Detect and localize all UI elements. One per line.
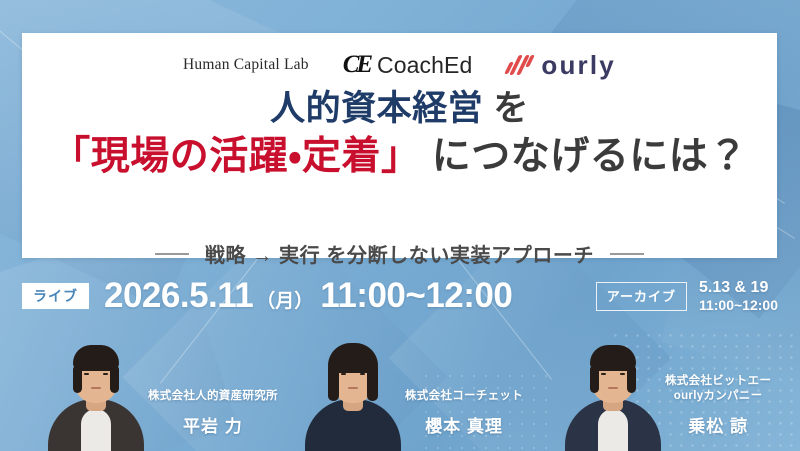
speaker-photo [48,330,144,451]
live-schedule: ライブ 2026.5.11 （月） 11:00~12:00 [22,276,512,316]
schedule-bar: ライブ 2026.5.11 （月） 11:00~12:00 アーカイブ 5.13… [0,266,800,326]
headline-line-1: 人的資本経営 を [22,88,777,131]
speaker-name: 乗松 諒 [665,412,771,437]
speaker-org: 株式会社ビットエー [665,374,771,390]
speaker-info: 株式会社人的資産研究所 平岩 力 [148,389,278,451]
coached-ce-mark-icon: CE [343,52,370,77]
speaker-row: 株式会社人的資産研究所 平岩 力 株式会社コーチェット 櫻本 真理 [0,330,800,451]
live-date: 2026.5.11 [104,276,253,316]
subtitle: 戦略 → 実行 を分断しない実装アプローチ [22,239,777,268]
live-datetime: 2026.5.11 （月） 11:00~12:00 [104,276,512,316]
speaker-org: 株式会社コーチェット [405,389,523,405]
headline-line-2-highlight: 「現場の活躍・定着」 [51,135,420,178]
speaker-photo [305,330,401,451]
live-badge: ライブ [22,283,89,309]
live-day-of-week: （月） [256,286,313,313]
logo-row: Human Capital Lab CE CoachEd ourly [22,52,777,78]
coached-wordmark: CoachEd [377,54,472,77]
subtitle-rule-left [155,253,189,255]
headline-line-1-highlight: 人的資本経営 [270,89,483,128]
logo-coached: CE CoachEd [343,53,473,78]
headline-line-2: 「現場の活躍・定着」 につなげるには？ [22,133,777,181]
webinar-banner: Human Capital Lab CE CoachEd ourly 人的資本経… [0,0,800,451]
speaker-org-line-2: ourlyカンパニー [665,389,771,405]
archive-badge: アーカイブ [596,282,687,311]
subtitle-rule-right [610,253,644,255]
archive-schedule: アーカイブ 5.13 & 19 11:00~12:00 [596,278,778,315]
speaker-info: 株式会社コーチェット 櫻本 真理 [405,389,523,451]
speaker-card: 株式会社コーチェット 櫻本 真理 [305,330,523,451]
speaker-card: 株式会社ビットエー ourlyカンパニー 乗松 諒 [565,330,771,451]
ourly-wordmark: ourly [541,52,616,78]
archive-dates: 5.13 & 19 [699,278,778,298]
headline: 人的資本経営 を 「現場の活躍・定着」 につなげるには？ [22,88,777,180]
logo-ourly: ourly [506,52,616,78]
headline-line-2-tail: につなげるには？ [420,135,747,178]
subtitle-text: 戦略 → 実行 を分断しない実装アプローチ [205,239,594,268]
speaker-card: 株式会社人的資産研究所 平岩 力 [48,330,278,451]
speaker-info: 株式会社ビットエー ourlyカンパニー 乗松 諒 [665,374,771,451]
live-time: 11:00~12:00 [320,276,512,316]
headline-line-1-tail: を [483,89,529,128]
archive-datetime: 5.13 & 19 11:00~12:00 [699,278,778,315]
archive-time: 11:00~12:00 [699,297,778,314]
speaker-photo [565,330,661,451]
speaker-name: 櫻本 真理 [405,412,523,437]
logo-human-capital-lab: Human Capital Lab [183,56,309,74]
speaker-org: 株式会社人的資産研究所 [148,389,278,405]
ourly-slashes-icon [506,54,532,76]
headline-card: Human Capital Lab CE CoachEd ourly 人的資本経… [22,33,777,258]
speaker-name: 平岩 力 [148,412,278,437]
